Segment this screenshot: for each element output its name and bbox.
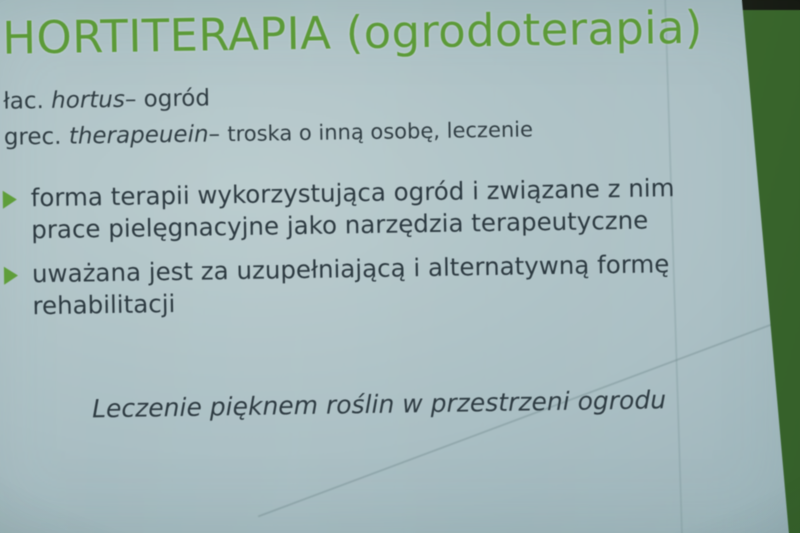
triangle-bullet-icon — [4, 266, 18, 284]
etymology-term-greek: therapeuein — [69, 121, 209, 149]
slide-title-main: HORTITERAPIA — [2, 7, 332, 65]
slide-content: HORTITERAPIA (ogrodoterapia) łac. hortus… — [0, 0, 800, 533]
etymology-language-greek: grec. — [4, 124, 62, 151]
etymology-language-latin: łac. — [3, 88, 44, 115]
projected-slide-photo: HORTITERAPIA (ogrodoterapia) łac. hortus… — [0, 0, 800, 533]
bullet-list: forma terapii wykorzystująca ogród i zwi… — [0, 171, 741, 334]
etymology-dash-greek: – — [208, 121, 220, 147]
etymology-dash-latin: – — [125, 87, 137, 113]
etymology-meaning-greek: troska o inną osobę, leczenie — [227, 117, 533, 146]
projection-screen: HORTITERAPIA (ogrodoterapia) łac. hortus… — [0, 0, 800, 533]
etymology-line-greek: grec. therapeuein– troska o inną osobę, … — [4, 118, 533, 149]
etymology-meaning-latin: ogród — [143, 85, 210, 112]
slide-title-parenthetical: (ogrodoterapia) — [345, 1, 703, 60]
slide-title: HORTITERAPIA (ogrodoterapia) — [2, 4, 703, 62]
etymology-line-latin: łac. hortus– ogród — [3, 87, 210, 113]
bullet-item: uważana jest za uzupełniającą i alternat… — [0, 247, 741, 322]
closing-statement: Leczenie pięknem roślin w przestrzeni og… — [92, 385, 666, 423]
etymology-term-latin: hortus — [51, 87, 125, 114]
bullet-item: forma terapii wykorzystująca ogród i zwi… — [0, 171, 739, 246]
triangle-bullet-icon — [3, 190, 17, 208]
